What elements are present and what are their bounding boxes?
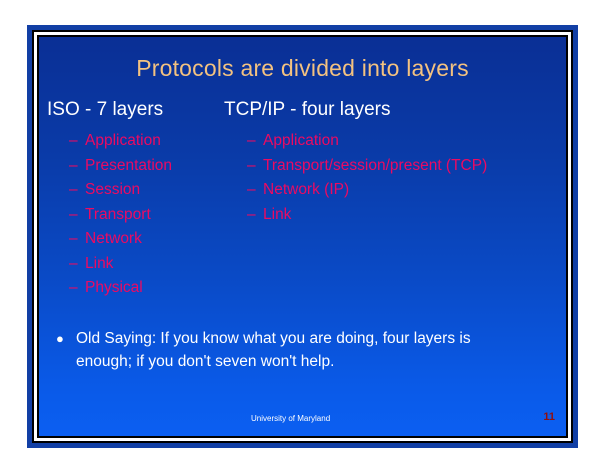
- footer-organization: University of Maryland: [251, 414, 330, 423]
- dash-marker-icon: –: [69, 252, 85, 277]
- list-item-label: Application: [85, 129, 161, 154]
- list-item-label: Session: [85, 178, 140, 203]
- dash-marker-icon: –: [69, 203, 85, 228]
- list-item: –Link: [69, 252, 249, 277]
- list-item: –Link: [247, 203, 547, 228]
- column-heading-iso: ISO - 7 layers: [47, 99, 163, 121]
- list-item-label: Link: [263, 203, 291, 228]
- dash-marker-icon: –: [247, 203, 263, 228]
- list-item: –Network: [69, 227, 249, 252]
- page-number: 11: [543, 411, 555, 423]
- bullet-dot-icon: ●: [53, 327, 76, 350]
- list-item-label: Network (IP): [263, 178, 349, 203]
- list-item: –Application: [69, 129, 249, 154]
- dash-marker-icon: –: [69, 154, 85, 179]
- list-item-label: Physical: [85, 276, 143, 301]
- dash-marker-icon: –: [69, 129, 85, 154]
- column-heading-tcpip: TCP/IP - four layers: [224, 99, 390, 121]
- list-item-label: Transport/session/present (TCP): [263, 154, 487, 179]
- dash-marker-icon: –: [247, 129, 263, 154]
- tcpip-layer-list: –Application –Transport/session/present …: [247, 129, 547, 227]
- list-item: –Presentation: [69, 154, 249, 179]
- dash-marker-icon: –: [69, 227, 85, 252]
- dash-marker-icon: –: [69, 178, 85, 203]
- dash-marker-icon: –: [247, 178, 263, 203]
- iso-layer-list: –Application –Presentation –Session –Tra…: [69, 129, 249, 301]
- list-item: –Session: [69, 178, 249, 203]
- old-saying-text: Old Saying: If you know what you are doi…: [76, 327, 528, 373]
- list-item-label: Network: [85, 227, 142, 252]
- dash-marker-icon: –: [69, 276, 85, 301]
- list-item-label: Transport: [85, 203, 151, 228]
- list-item: –Physical: [69, 276, 249, 301]
- old-saying-bullet: ● Old Saying: If you know what you are d…: [53, 327, 528, 373]
- list-item: –Network (IP): [247, 178, 547, 203]
- list-item-label: Application: [263, 129, 339, 154]
- list-item: –Transport: [69, 203, 249, 228]
- list-item: –Transport/session/present (TCP): [247, 154, 547, 179]
- list-item-label: Link: [85, 252, 113, 277]
- page-title: Protocols are divided into layers: [39, 55, 566, 82]
- dash-marker-icon: –: [247, 154, 263, 179]
- slide-canvas: Protocols are divided into layers ISO - …: [39, 37, 566, 436]
- list-item: –Application: [247, 129, 547, 154]
- list-item-label: Presentation: [85, 154, 172, 179]
